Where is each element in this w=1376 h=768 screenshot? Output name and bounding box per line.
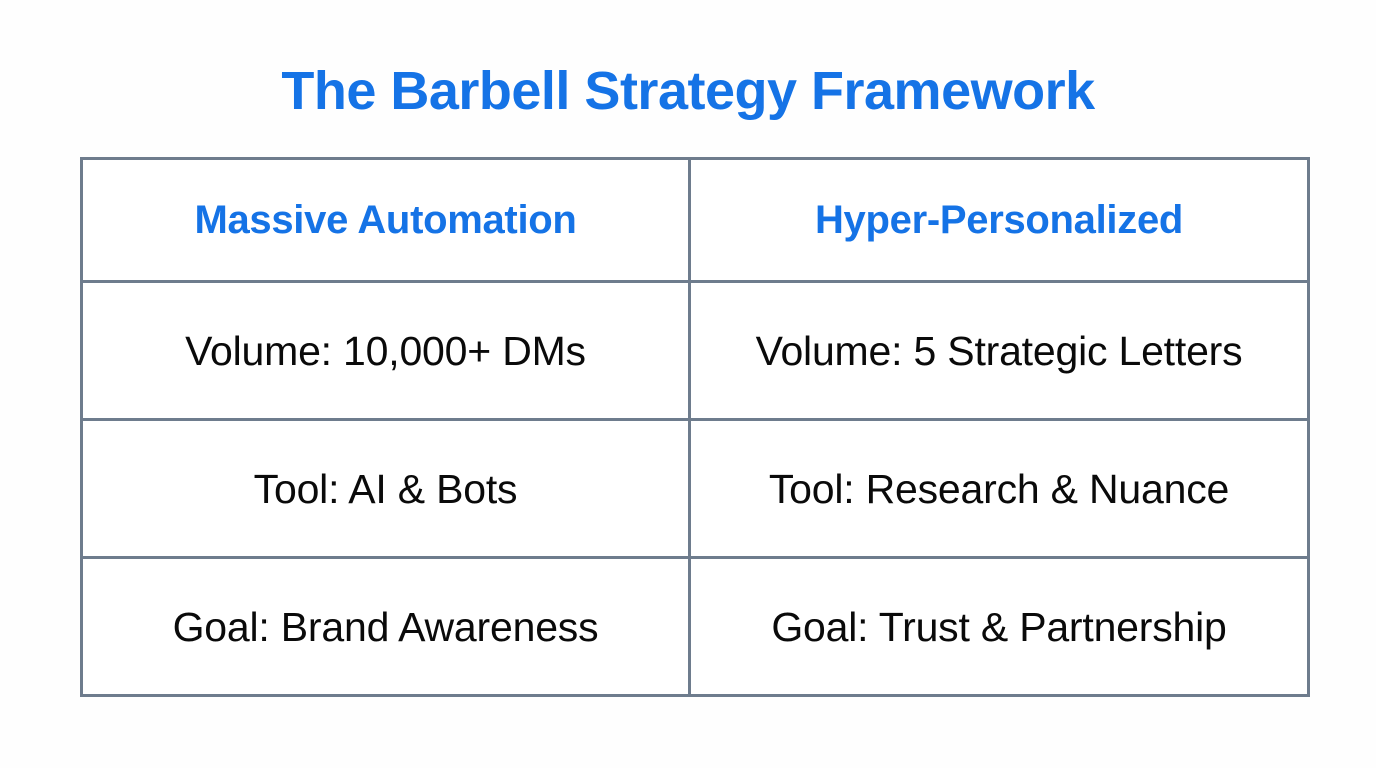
table-cell-volume-automation: Volume: 10,000+ DMs [82,282,690,420]
table-cell-tool-automation: Tool: AI & Bots [82,420,690,558]
table-header-row: Massive Automation Hyper-Personalized [82,159,1309,282]
table-cell-volume-personalized: Volume: 5 Strategic Letters [690,282,1309,420]
table-row-volume: Volume: 10,000+ DMs Volume: 5 Strategic … [82,282,1309,420]
table-cell-text: Goal: Trust & Partnership [771,604,1226,650]
table-row-goal: Goal: Brand Awareness Goal: Trust & Part… [82,558,1309,696]
page-title: The Barbell Strategy Framework [0,58,1376,124]
table-cell-goal-personalized: Goal: Trust & Partnership [690,558,1309,696]
table-cell-text: Tool: Research & Nuance [769,466,1229,512]
table-row-tool: Tool: AI & Bots Tool: Research & Nuance [82,420,1309,558]
table-header-cell-hyper-personalized: Hyper-Personalized [690,159,1309,282]
table-header-label: Massive Automation [194,198,576,242]
table-cell-tool-personalized: Tool: Research & Nuance [690,420,1309,558]
slide-canvas: The Barbell Strategy Framework Massive A… [0,0,1376,768]
table-cell-text: Goal: Brand Awareness [173,604,599,650]
table-cell-text: Volume: 5 Strategic Letters [756,328,1243,374]
table-cell-text: Volume: 10,000+ DMs [185,328,586,374]
barbell-strategy-table-wrapper: Massive Automation Hyper-Personalized Vo… [80,157,1307,695]
table-cell-goal-automation: Goal: Brand Awareness [82,558,690,696]
barbell-strategy-table: Massive Automation Hyper-Personalized Vo… [80,157,1310,697]
table-cell-text: Tool: AI & Bots [254,466,518,512]
table-header-label: Hyper-Personalized [815,198,1183,242]
table-header-cell-massive-automation: Massive Automation [82,159,690,282]
